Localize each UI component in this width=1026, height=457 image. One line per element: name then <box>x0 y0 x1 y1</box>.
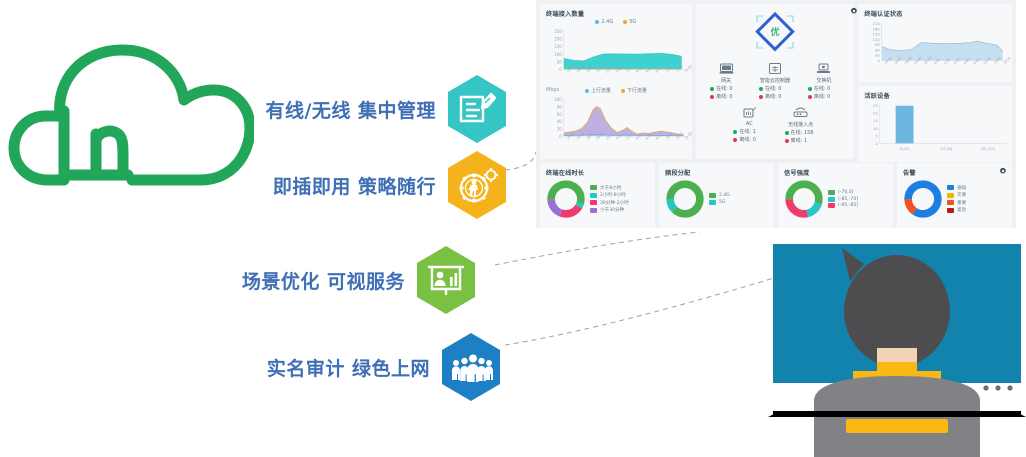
legend-item: 上行流量 <box>585 87 611 94</box>
device-offline: 离线: 0 <box>751 93 799 100</box>
svg-text:14:00: 14:00 <box>1003 56 1012 65</box>
device-offline: 离线: 1 <box>777 137 825 144</box>
svg-text:50: 50 <box>557 59 563 64</box>
card-title: 活跃设备 <box>858 86 1012 100</box>
svg-text:14:00: 14:00 <box>684 131 692 140</box>
feature-row-2[interactable]: 即插即用 策略随行 <box>246 150 508 220</box>
feature-label: 实名审计 绿色上网 <box>240 354 430 381</box>
legend-item: (-70,0] <box>828 190 858 195</box>
gear-icon[interactable] <box>999 167 1007 175</box>
legend-item: 紧急 <box>947 207 966 213</box>
svg-text:30: 30 <box>875 54 880 58</box>
svg-text:(0,25]: (0,25] <box>900 147 911 151</box>
access-point-icon <box>777 104 825 120</box>
device-online: 在线: 158 <box>777 129 825 136</box>
legend-alarms: 通知 次要 重要 紧急 <box>947 185 966 214</box>
device-ac[interactable]: AC 在线: 1 离线: 0 <box>725 104 773 144</box>
legend-traffic: 上行流量 下行流量 <box>540 87 692 94</box>
legend-label: 上行流量 <box>591 87 611 94</box>
gear-icon[interactable] <box>850 7 858 15</box>
svg-text:150: 150 <box>873 33 881 37</box>
feature-label: 即插即用 策略随行 <box>246 172 436 199</box>
feature-label: 有线/无线 集中管理 <box>246 96 436 123</box>
device-name: 智能云控制器 <box>751 77 799 84</box>
svg-text:150: 150 <box>554 44 562 49</box>
health-badge: 优 <box>696 8 855 56</box>
device-online: 在线: 0 <box>702 85 750 92</box>
card-online-duration: 终端在线时长 大于8小时 2小时-8小时 30分钟-2小时 小于30分钟 <box>540 163 655 228</box>
legend-item: 2小时-8小时 <box>590 192 629 198</box>
svg-text:20: 20 <box>873 112 878 116</box>
svg-text:5: 5 <box>876 134 879 138</box>
chart-traffic: 100 80 60 40 20 0 14:00 16:00 <box>540 94 692 154</box>
device-name: 无线接入点 <box>777 121 825 128</box>
legend-label: 下行流量 <box>627 87 647 94</box>
svg-text:120: 120 <box>873 38 881 42</box>
legend-item: 5G <box>709 200 730 205</box>
legend-item: 次要 <box>947 192 966 198</box>
svg-text:210: 210 <box>873 22 881 26</box>
legend-item: 2.4G <box>709 193 730 198</box>
donut-band-allocation <box>665 179 705 219</box>
page-root: 有线/无线 集中管理 即插即用 策略随行 <box>0 0 1026 457</box>
legend-online-duration: 大于8小时 2小时-8小时 30分钟-2小时 小于30分钟 <box>590 185 629 214</box>
legend-item: 下行流量 <box>621 87 647 94</box>
svg-text:60: 60 <box>557 112 563 117</box>
legend-item: 小于30分钟 <box>590 207 629 213</box>
feature-row-1[interactable]: 有线/无线 集中管理 <box>246 74 508 144</box>
device-name: 网关 <box>702 77 750 84</box>
feature-row-4[interactable]: 实名审计 绿色上网 <box>240 332 502 402</box>
device-name: 交换机 <box>800 77 848 84</box>
card-title: 信号强度 <box>778 163 893 177</box>
device-row-bottom: AC 在线: 1 离线: 0 无线接入点 在线: 158 离线: 1 <box>696 104 855 144</box>
svg-text:25: 25 <box>873 104 878 108</box>
device-row-top: 网关 在线: 0 离线: 0 智能云控制器 在线: 0 离线: 0 <box>696 60 855 100</box>
donut-online-duration <box>546 179 586 219</box>
ac-icon <box>725 104 773 120</box>
card-terminal-count: 终端接入数量 2.4G 5G 250 200 150 <box>540 4 692 159</box>
card-device-status: 优 网关 在线: 0 离线: 0 <box>696 4 855 159</box>
svg-text:100: 100 <box>554 97 562 102</box>
svg-text:80: 80 <box>557 105 563 110</box>
svg-text:20: 20 <box>557 127 563 132</box>
device-online: 在线: 0 <box>800 85 848 92</box>
document-pencil-icon <box>446 74 508 144</box>
device-gateway[interactable]: 网关 在线: 0 离线: 0 <box>702 60 750 100</box>
card-auth-status: 终端认证状态 210 180 150 120 90 60 30 0 <box>858 4 1012 82</box>
legend-item: (-85,-70] <box>828 197 858 202</box>
chart-terminal-count: 250 200 150 100 50 0 14:00 16:00 <box>540 25 692 83</box>
card-title: 终端认证状态 <box>858 4 1012 18</box>
svg-text:(50,127]: (50,127] <box>981 147 996 151</box>
svg-text:40: 40 <box>557 119 563 124</box>
feature-label: 场景优化 可视服务 <box>215 267 405 294</box>
badge-text: 优 <box>770 26 779 38</box>
legend-item: (-95,-85] <box>828 203 858 208</box>
card-title: 终端接入数量 <box>540 4 692 18</box>
card-active-devices: 活跃设备 25 20 15 10 5 0 <box>858 86 1012 162</box>
cloud-controller-icon <box>751 60 799 76</box>
svg-text:0: 0 <box>559 134 562 139</box>
device-offline: 离线: 0 <box>800 93 848 100</box>
people-group-icon <box>440 332 502 402</box>
svg-text:15: 15 <box>873 119 878 123</box>
feature-row-3[interactable]: 场景优化 可视服务 <box>215 245 477 315</box>
legend-item: 通知 <box>947 185 966 191</box>
donut-alarms <box>903 179 943 219</box>
device-offline: 离线: 0 <box>725 136 773 143</box>
right-column: 终端认证状态 210 180 150 120 90 60 30 0 <box>858 4 1012 159</box>
legend-item: 大于8小时 <box>590 185 629 191</box>
svg-text:0: 0 <box>878 59 881 63</box>
device-cloud-controller[interactable]: 智能云控制器 在线: 0 离线: 0 <box>751 60 799 100</box>
card-title: 告警 <box>897 163 1012 177</box>
svg-text:100: 100 <box>554 52 562 57</box>
device-name: AC <box>725 121 773 127</box>
gateway-icon <box>702 60 750 76</box>
svg-text:90: 90 <box>875 43 880 47</box>
switch-icon <box>800 60 848 76</box>
card-signal-strength: 信号强度 (-70,0] (-85,-70] (-95,-85] <box>778 163 893 228</box>
dashboard-panel: 终端接入数量 2.4G 5G 250 200 150 <box>536 0 1016 228</box>
device-online: 在线: 1 <box>725 128 773 135</box>
svg-text:10: 10 <box>873 127 878 131</box>
gear-person-icon <box>446 150 508 220</box>
svg-text:(25,50]: (25,50] <box>940 147 953 151</box>
chart-active-devices: 25 20 15 10 5 0 (0,25] (25,50] <box>858 100 1012 158</box>
person-at-monitor <box>768 236 1026 457</box>
cloud-lm-logo <box>4 24 254 206</box>
legend-item: 重要 <box>947 200 966 206</box>
svg-text:14:00: 14:00 <box>684 64 692 73</box>
legend-band-allocation: 2.4G 5G <box>709 193 730 205</box>
svg-text:200: 200 <box>554 37 562 42</box>
device-online: 在线: 0 <box>751 85 799 92</box>
card-band-allocation: 频段分配 2.4G 5G <box>659 163 774 228</box>
device-switch[interactable]: 交换机 在线: 0 离线: 0 <box>800 60 848 100</box>
card-alarms: 告警 通知 次要 重要 紧急 <box>897 163 1012 228</box>
presentation-chart-icon <box>415 245 477 315</box>
legend-item: 30分钟-2小时 <box>590 200 629 206</box>
svg-text:180: 180 <box>873 27 881 31</box>
device-offline: 离线: 0 <box>702 93 750 100</box>
svg-text:60: 60 <box>875 48 880 52</box>
chart-auth-status: 210 180 150 120 90 60 30 0 <box>858 18 1012 78</box>
donut-signal-strength <box>784 179 824 219</box>
device-access-point[interactable]: 无线接入点 在线: 158 离线: 1 <box>777 104 825 144</box>
svg-text:250: 250 <box>554 29 562 34</box>
svg-text:0: 0 <box>876 142 879 146</box>
legend-signal-strength: (-70,0] (-85,-70] (-95,-85] <box>828 190 858 208</box>
card-title: 终端在线时长 <box>540 163 655 177</box>
svg-text:0: 0 <box>559 67 562 72</box>
card-title: 频段分配 <box>659 163 774 177</box>
